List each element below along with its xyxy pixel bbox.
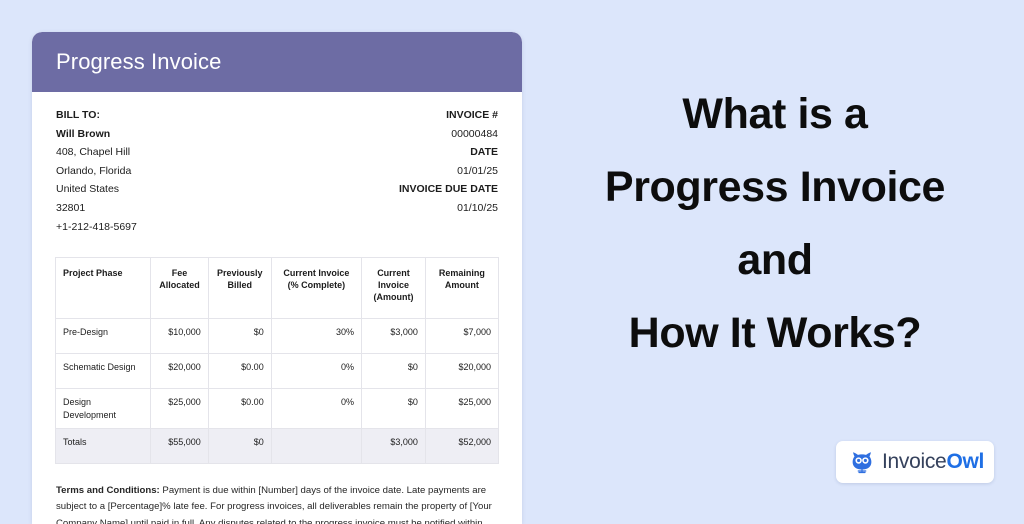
logo-text-invoice: Invoice	[882, 450, 946, 473]
headline-line-2: Progress Invoice	[540, 151, 1010, 224]
phases-table-head: Project Phase Fee Allocated Previously B…	[56, 258, 499, 319]
col-header-text: Billed	[228, 280, 253, 290]
invoice-number-label: INVOICE #	[399, 106, 498, 125]
invoice-meta-section: BILL TO: Will Brown 408, Chapel Hill Orl…	[32, 92, 522, 246]
table-header-row: Project Phase Fee Allocated Previously B…	[56, 258, 499, 319]
cell-remaining-amount: $25,000	[425, 389, 498, 429]
invoice-date-value: 01/01/25	[399, 162, 498, 181]
col-header-text: Allocated	[159, 280, 200, 290]
cell-fee-allocated: $10,000	[151, 319, 209, 354]
col-header-text: Invoice	[378, 280, 409, 290]
poster-headline: What is a Progress Invoice and How It Wo…	[540, 78, 1010, 370]
cell-previously-billed: $0.00	[208, 389, 271, 429]
phases-table-wrapper: Project Phase Fee Allocated Previously B…	[32, 246, 522, 464]
cell-totals-previously-billed: $0	[208, 429, 271, 464]
phases-table-body: Pre-Design $10,000 $0 30% $3,000 $7,000 …	[56, 319, 499, 464]
col-header-previously-billed: Previously Billed	[208, 258, 271, 319]
headline-line-1: What is a	[540, 78, 1010, 151]
cell-fee-allocated: $25,000	[151, 389, 209, 429]
col-header-fee-allocated: Fee Allocated	[151, 258, 209, 319]
invoice-title: Progress Invoice	[56, 49, 221, 75]
col-header-remaining-amount: Remaining Amount	[425, 258, 498, 319]
cell-totals-percent-complete	[271, 429, 361, 464]
cell-fee-allocated: $20,000	[151, 354, 209, 389]
cell-percent-complete: 30%	[271, 319, 361, 354]
bill-to-zip: 32801	[56, 199, 137, 218]
col-header-text: Current Invoice	[283, 268, 349, 278]
table-totals-row: Totals $55,000 $0 $3,000 $52,000	[56, 429, 499, 464]
invoice-due-date-value: 01/10/25	[399, 199, 498, 218]
invoice-due-date-label: INVOICE DUE DATE	[399, 180, 498, 199]
col-header-text: Project Phase	[63, 268, 123, 278]
phases-table: Project Phase Fee Allocated Previously B…	[55, 257, 499, 464]
bill-to-block: BILL TO: Will Brown 408, Chapel Hill Orl…	[56, 106, 137, 236]
cell-phase: Design Development	[56, 389, 151, 429]
cell-previously-billed: $0.00	[208, 354, 271, 389]
poster-canvas: Progress Invoice BILL TO: Will Brown 408…	[0, 0, 1024, 512]
bill-to-label: BILL TO:	[56, 106, 137, 125]
invoice-header-band: Progress Invoice	[32, 32, 522, 92]
invoice-card: Progress Invoice BILL TO: Will Brown 408…	[32, 32, 522, 524]
terms-heading: Terms and Conditions:	[56, 485, 160, 496]
cell-previously-billed: $0	[208, 319, 271, 354]
invoice-number-value: 00000484	[399, 125, 498, 144]
cell-totals-remaining-amount: $52,000	[425, 429, 498, 464]
logo-wordmark: InvoiceOwl	[882, 450, 984, 474]
table-row: Design Development $25,000 $0.00 0% $0 $…	[56, 389, 499, 429]
col-header-text: (% Complete)	[288, 280, 346, 290]
terms-and-conditions: Terms and Conditions: Payment is due wit…	[32, 464, 522, 524]
bill-to-address-line-1: 408, Chapel Hill	[56, 143, 137, 162]
cell-current-amount: $0	[362, 354, 426, 389]
owl-icon	[850, 450, 874, 474]
col-header-text: Amount	[445, 280, 479, 290]
invoiceowl-logo-badge[interactable]: InvoiceOwl	[836, 441, 994, 483]
cell-percent-complete: 0%	[271, 354, 361, 389]
bill-to-name: Will Brown	[56, 125, 137, 144]
col-header-text: Current	[377, 268, 410, 278]
invoice-meta-block: INVOICE # 00000484 DATE 01/01/25 INVOICE…	[399, 106, 498, 236]
cell-phase: Schematic Design	[56, 354, 151, 389]
col-header-text: (Amount)	[373, 292, 413, 302]
col-header-project-phase: Project Phase	[56, 258, 151, 319]
col-header-text: Previously	[217, 268, 263, 278]
col-header-percent-complete: Current Invoice (% Complete)	[271, 258, 361, 319]
logo-text-owl: Owl	[946, 450, 984, 473]
cell-totals-label: Totals	[56, 429, 151, 464]
col-header-text: Remaining	[439, 268, 485, 278]
bill-to-phone: +1-212-418-5697	[56, 218, 137, 237]
cell-totals-current-amount: $3,000	[362, 429, 426, 464]
bill-to-country: United States	[56, 180, 137, 199]
cell-remaining-amount: $20,000	[425, 354, 498, 389]
cell-current-amount: $3,000	[362, 319, 426, 354]
invoice-date-label: DATE	[399, 143, 498, 162]
cell-percent-complete: 0%	[271, 389, 361, 429]
headline-line-4: How It Works?	[540, 297, 1010, 370]
table-row: Schematic Design $20,000 $0.00 0% $0 $20…	[56, 354, 499, 389]
cell-phase: Pre-Design	[56, 319, 151, 354]
cell-remaining-amount: $7,000	[425, 319, 498, 354]
col-header-current-invoice-amount: Current Invoice (Amount)	[362, 258, 426, 319]
bill-to-address-line-2: Orlando, Florida	[56, 162, 137, 181]
table-row: Pre-Design $10,000 $0 30% $3,000 $7,000	[56, 319, 499, 354]
col-header-text: Fee	[172, 268, 188, 278]
headline-line-3: and	[540, 224, 1010, 297]
cell-totals-fee-allocated: $55,000	[151, 429, 209, 464]
cell-current-amount: $0	[362, 389, 426, 429]
